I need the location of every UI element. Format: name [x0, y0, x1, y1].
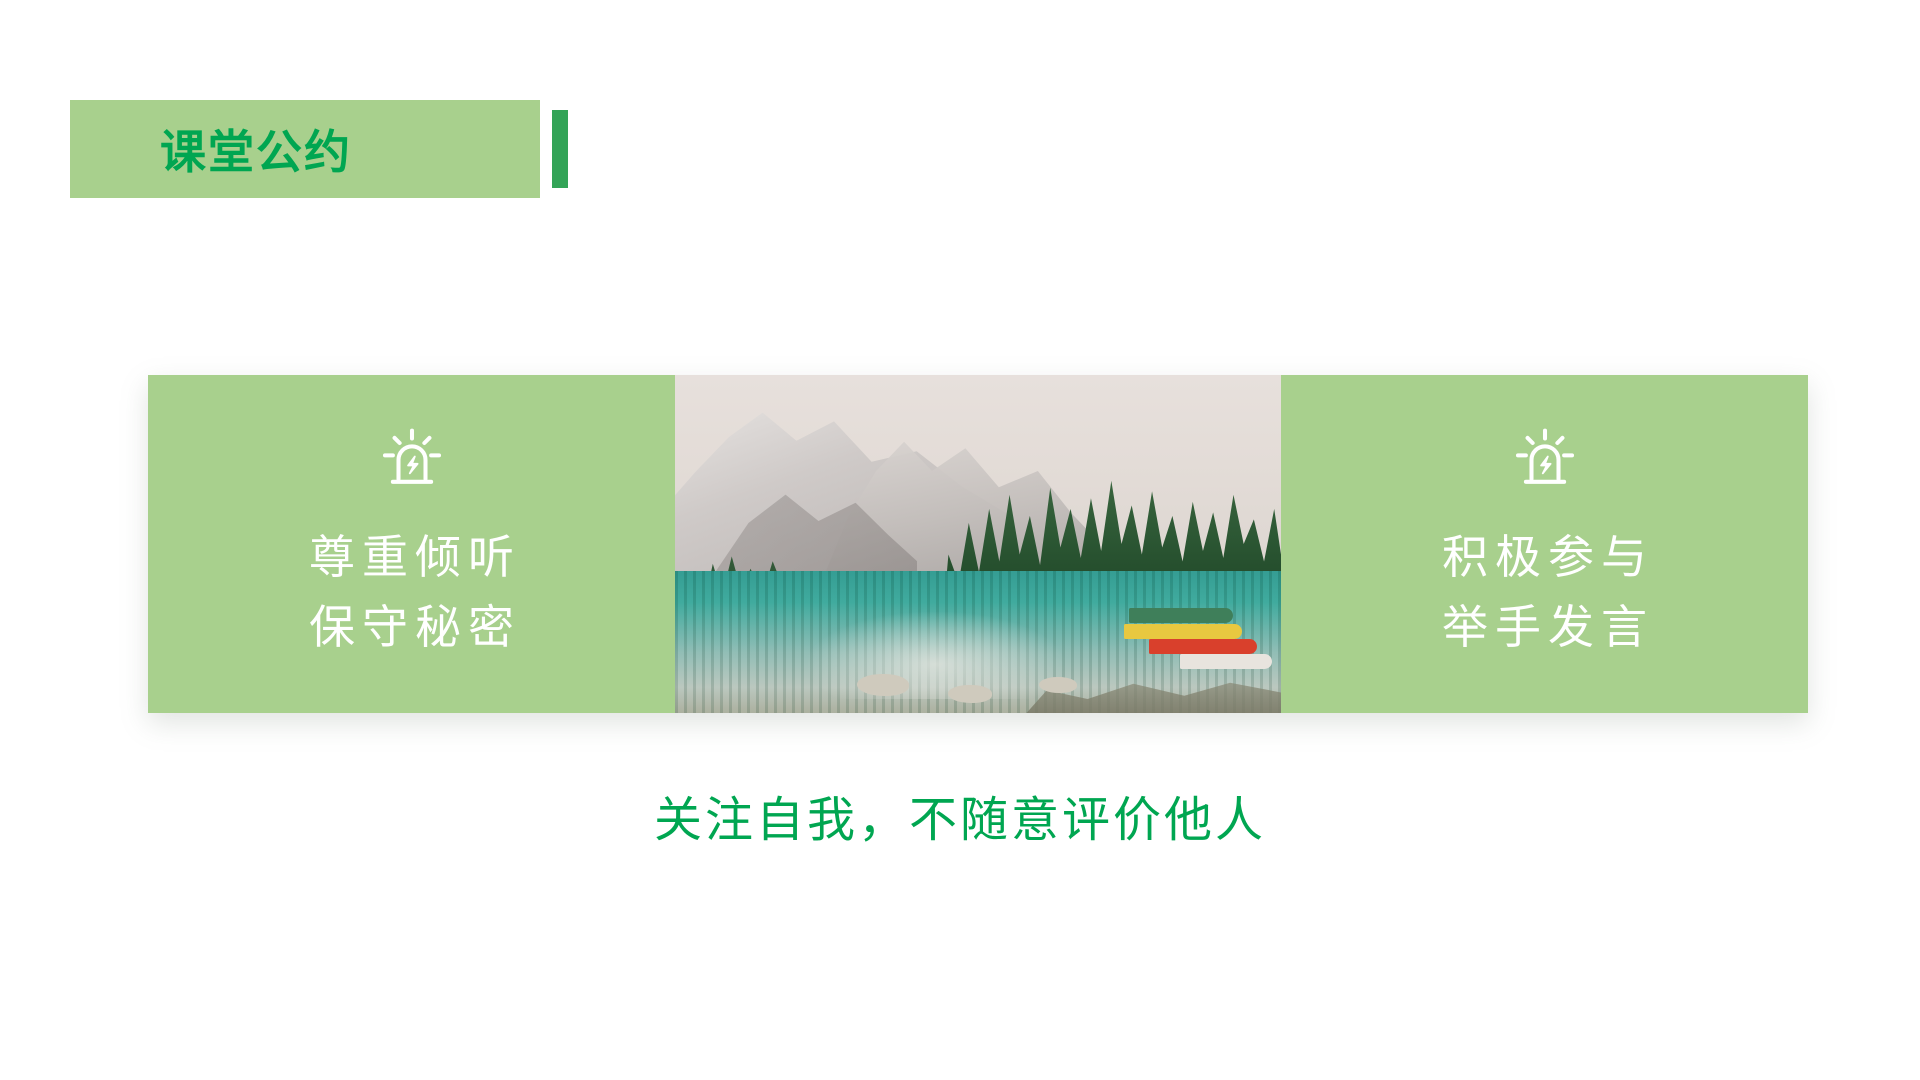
rules-cards-row: 尊重倾听 保守秘密	[148, 375, 1808, 713]
rule-card-left-line-1: 尊重倾听	[302, 523, 521, 593]
photo-rock	[948, 685, 992, 703]
rule-card-right[interactable]: 积极参与 举手发言	[1281, 375, 1808, 713]
slide-title-block: 课堂公约	[70, 100, 568, 198]
slide-caption: 关注自我，不随意评价他人	[0, 780, 1920, 850]
alarm-siren-icon	[1509, 425, 1581, 497]
photo-canoe-green	[1129, 608, 1233, 623]
photo-canoe-red	[1149, 639, 1257, 654]
title-band: 课堂公约	[70, 100, 540, 198]
mountain-lake-photo	[675, 375, 1281, 713]
photo-lake-highlight	[808, 612, 1063, 700]
photo-canoe-white	[1180, 654, 1272, 669]
page-title: 课堂公约	[160, 116, 352, 182]
rule-card-right-line-1: 积极参与	[1435, 523, 1654, 593]
title-accent-bar	[552, 110, 568, 188]
alarm-siren-icon	[376, 425, 448, 497]
rule-card-left[interactable]: 尊重倾听 保守秘密	[148, 375, 675, 713]
photo-rock	[1039, 677, 1077, 693]
rule-card-right-line-2: 举手发言	[1435, 593, 1654, 663]
photo-rock	[857, 674, 909, 696]
rule-card-left-line-2: 保守秘密	[302, 593, 521, 663]
photo-canoe-yellow	[1124, 624, 1242, 639]
